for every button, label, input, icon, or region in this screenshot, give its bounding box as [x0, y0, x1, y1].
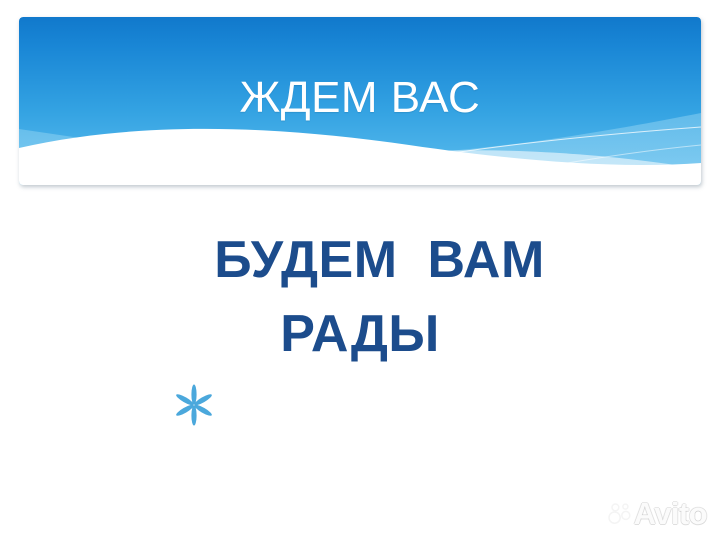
avito-logo-icon [607, 501, 633, 527]
slide-canvas: ЖДЕМ ВАС БУДЕМ ВАМ РАДЫ [0, 0, 720, 539]
body-line-1-row: БУДЕМ ВАМ [175, 224, 545, 297]
body-text-block: БУДЕМ ВАМ РАДЫ [0, 224, 720, 371]
body-line-1-text: БУДЕМ ВАМ [214, 224, 545, 297]
header-title: ЖДЕМ ВАС [19, 73, 701, 123]
asterisk-flower-icon [175, 238, 213, 280]
body-line-2-text: РАДЫ [0, 298, 720, 371]
avito-watermark: Avito [607, 498, 707, 529]
avito-wordmark: Avito [634, 498, 707, 529]
